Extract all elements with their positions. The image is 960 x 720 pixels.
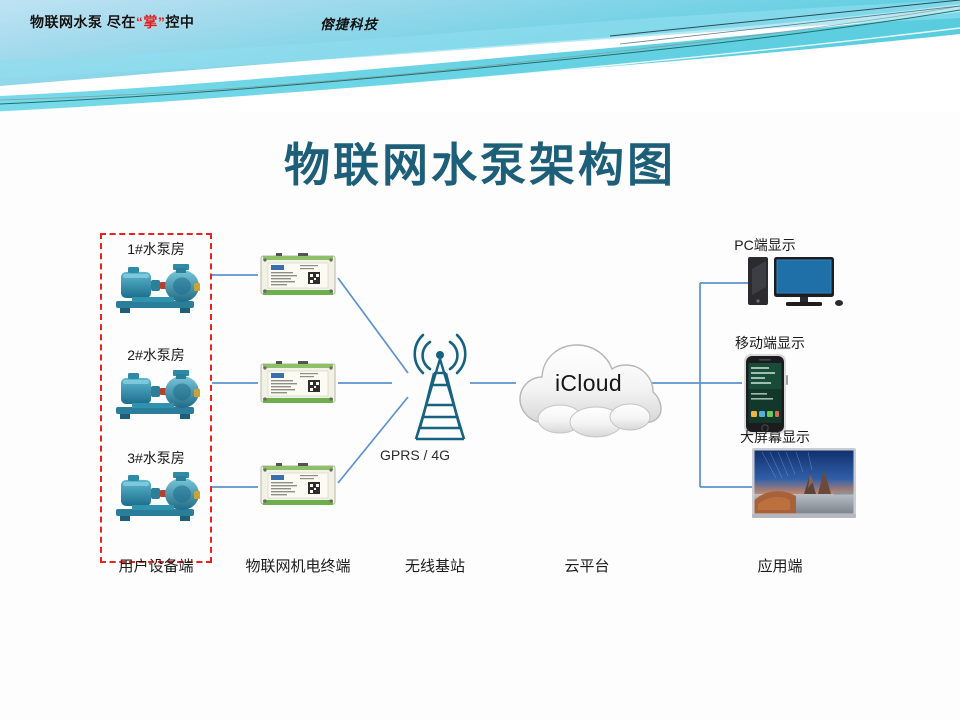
- iot-terminal-module-icon: [260, 361, 336, 407]
- cell-tower-icon: [390, 325, 490, 450]
- pump-label-3: 3#水泵房: [100, 448, 212, 468]
- stage-label-5: 应用端: [720, 555, 840, 576]
- stage-label-3: 无线基站: [375, 555, 495, 576]
- iot-terminal-module-icon: [260, 463, 336, 509]
- stage-label-2: 物联网机电终端: [222, 555, 374, 576]
- pump-label-2: 2#水泵房: [100, 345, 212, 365]
- water-pump-icon: [110, 467, 202, 523]
- slide-canvas: 物联网水泵 尽在“掌”控中 傛捷科技 物联网水泵架构图: [0, 0, 960, 720]
- app-label-bigscreen: 大屏幕显示: [700, 427, 850, 447]
- iot-terminal-module-icon: [260, 253, 336, 299]
- smartphone-icon: [742, 353, 788, 435]
- header-slogan-pre: 物联网水泵 尽在: [30, 14, 136, 30]
- desktop-computer-icon: [748, 255, 844, 313]
- header-banner: 物联网水泵 尽在“掌”控中 傛捷科技: [0, 0, 960, 112]
- base-station-label: GPRS / 4G: [355, 447, 475, 463]
- header-slogan-accent: “掌”: [136, 14, 166, 30]
- water-pump-icon: [110, 259, 202, 315]
- brand-name: 傛捷科技: [320, 13, 378, 33]
- water-pump-icon: [110, 365, 202, 421]
- stage-label-1: 用户设备端: [96, 555, 216, 576]
- pump-label-1: 1#水泵房: [100, 239, 212, 259]
- cloud-label: iCloud: [511, 370, 666, 397]
- page-title: 物联网水泵架构图: [0, 129, 960, 195]
- large-screen-tv-icon: [752, 448, 856, 520]
- architecture-diagram: 1#水泵房 2#: [0, 215, 960, 615]
- header-slogan-post: 控中: [165, 14, 194, 30]
- stage-label-4: 云平台: [527, 555, 647, 576]
- header-slogan: 物联网水泵 尽在“掌”控中: [30, 12, 194, 32]
- app-label-mobile: 移动端显示: [700, 333, 840, 353]
- app-label-pc: PC端显示: [700, 235, 830, 255]
